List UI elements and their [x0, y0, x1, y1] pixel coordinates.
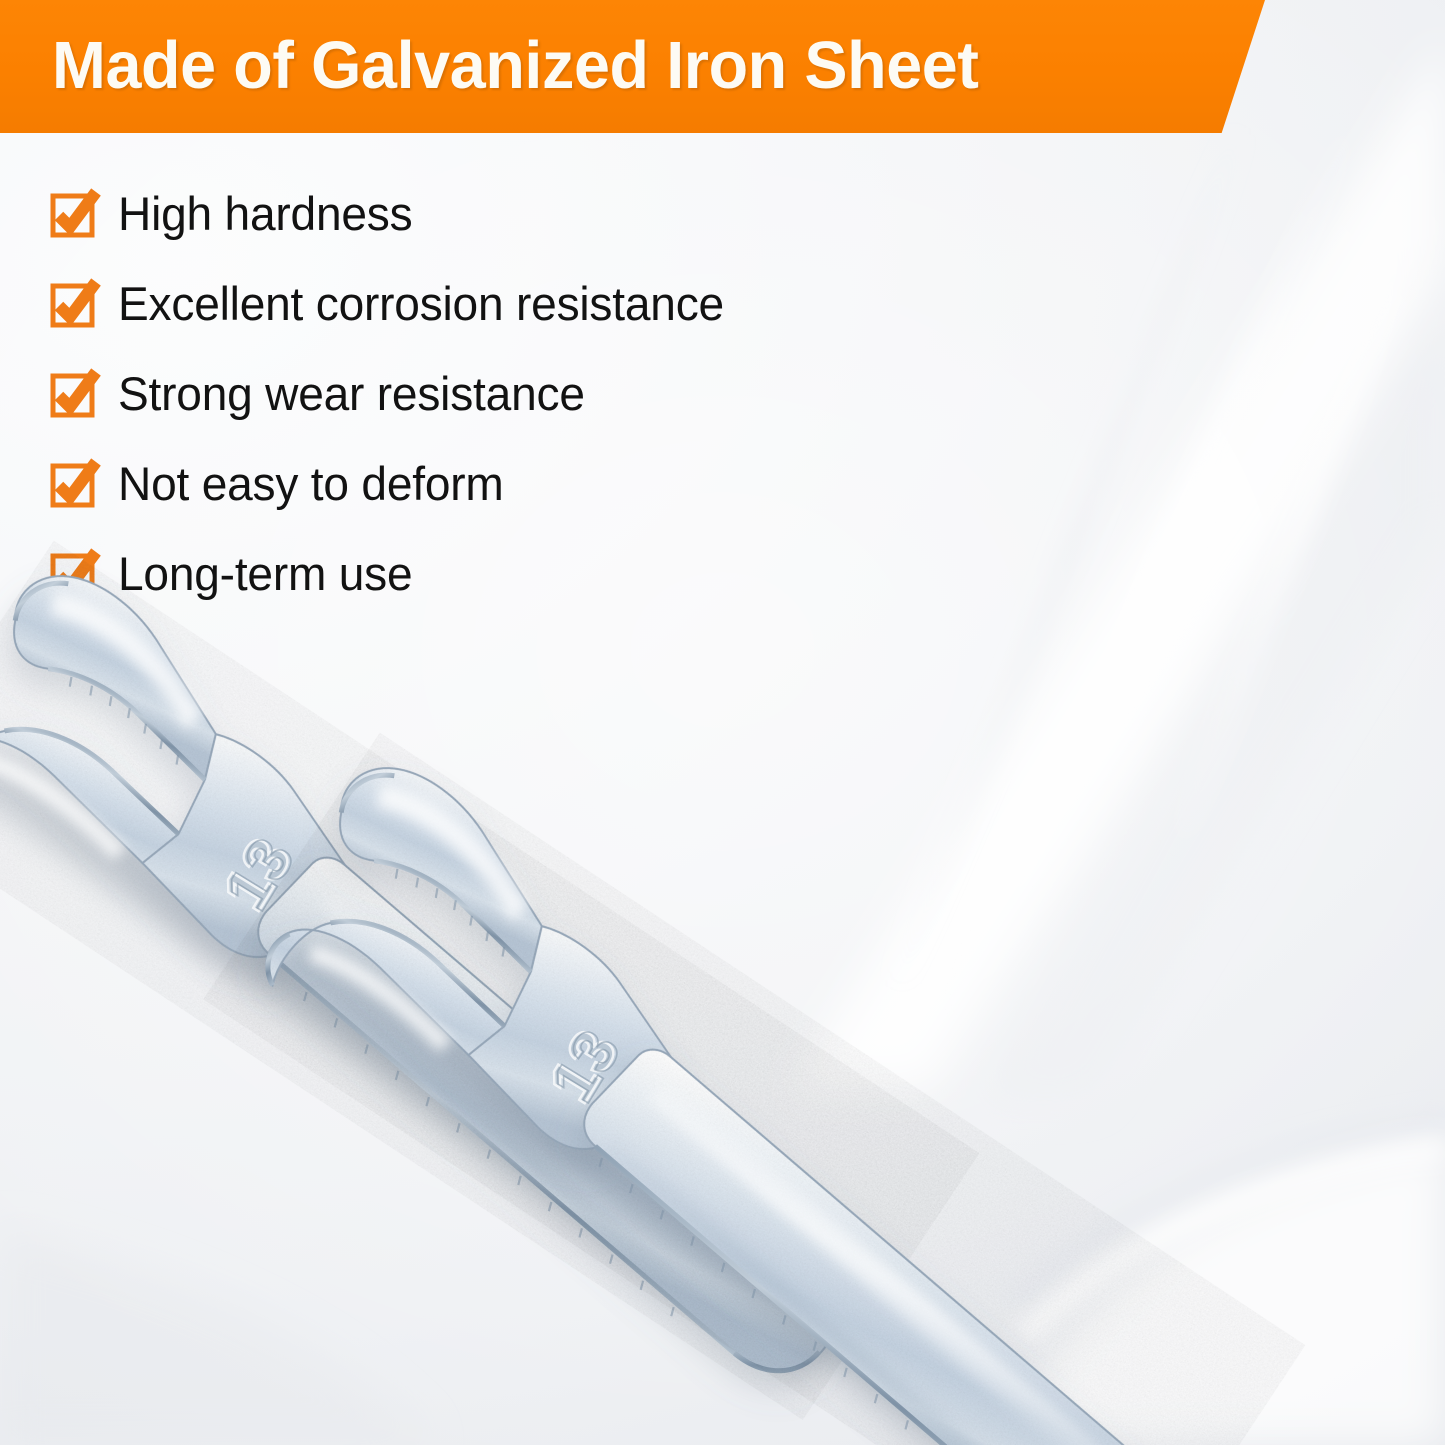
product-feature-image: Made of Galvanized Iron Sheet High hardn…: [0, 0, 1445, 1445]
checked-checkbox-icon: [52, 373, 92, 413]
checked-checkbox-icon: [52, 283, 92, 323]
wrench-lower: 13 13: [203, 733, 1305, 1445]
feature-item: High hardness: [52, 168, 1052, 258]
feature-label: High hardness: [118, 186, 412, 241]
feature-item: Strong wear resistance: [52, 348, 1052, 438]
product-photo: 13 13: [0, 440, 1445, 1445]
page-title: Made of Galvanized Iron Sheet: [52, 27, 979, 104]
feature-label: Strong wear resistance: [118, 366, 585, 421]
feature-label: Excellent corrosion resistance: [118, 276, 724, 331]
feature-item: Excellent corrosion resistance: [52, 258, 1052, 348]
checked-checkbox-icon: [52, 193, 92, 233]
